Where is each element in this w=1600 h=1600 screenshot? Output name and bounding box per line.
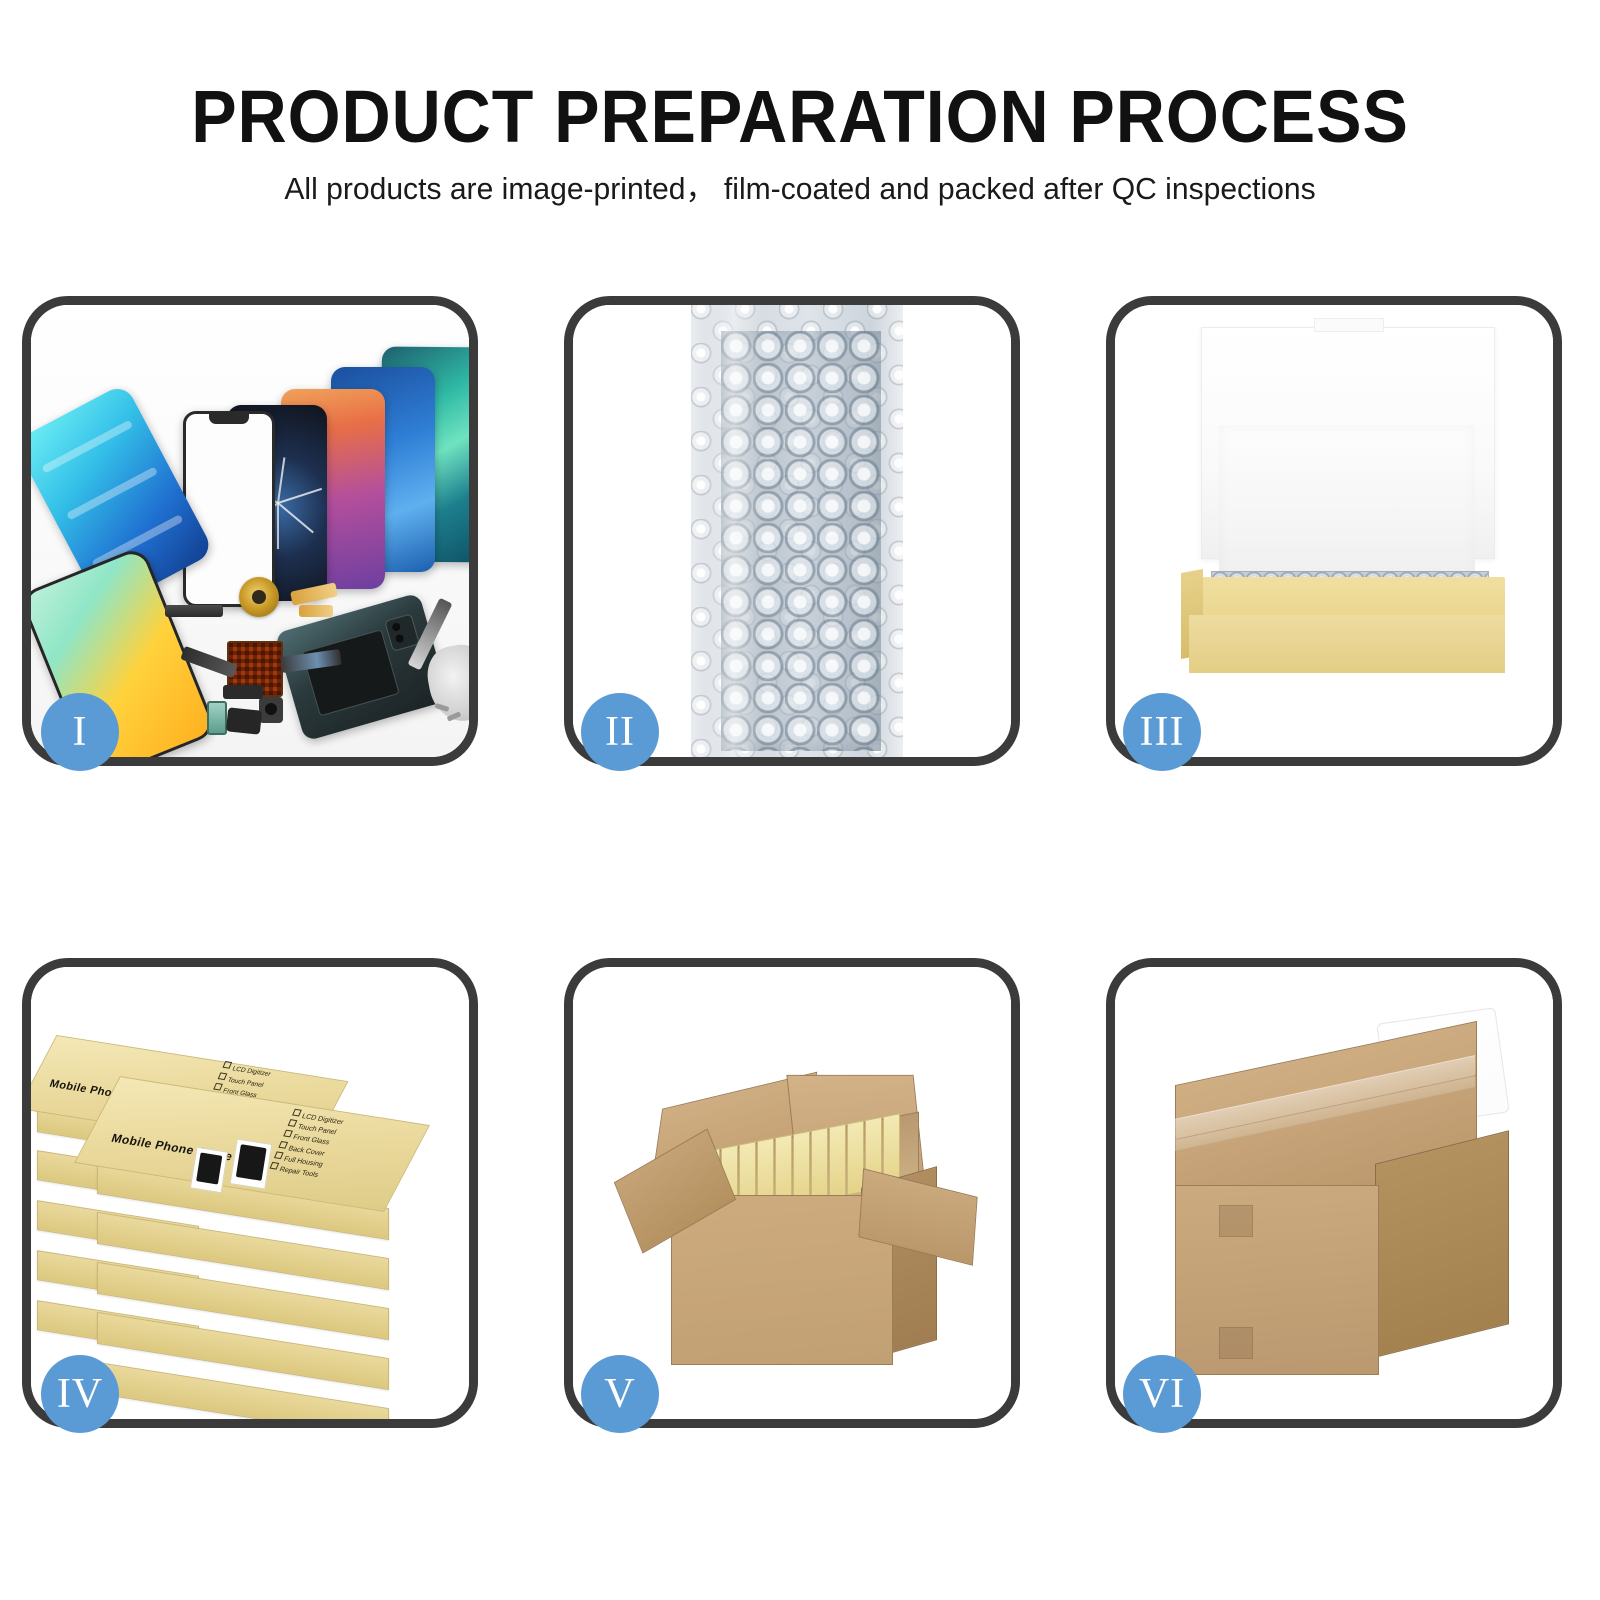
- retail-box-phone-img-front-2: [230, 1138, 273, 1189]
- panel-3-image: [1115, 305, 1553, 757]
- flex-cable-b: [299, 605, 333, 617]
- panel-badge-2: II: [581, 693, 659, 771]
- camera-module: [259, 697, 283, 723]
- panel-4-image: Mobile Phone Spare Parts LCD Digitizer T…: [31, 967, 469, 1419]
- process-panel-1[interactable]: I: [22, 296, 478, 766]
- panel-6-image: [1115, 967, 1553, 1419]
- panel-1-image: [31, 305, 469, 757]
- foam-pad: [1219, 425, 1475, 591]
- carton-front: [1175, 1185, 1379, 1375]
- screws-group: [435, 705, 469, 723]
- panel-badge-4: IV: [41, 1355, 119, 1433]
- process-panel-6[interactable]: VI: [1106, 958, 1562, 1428]
- tape-square-upper: [1219, 1205, 1253, 1237]
- carton-side: [1375, 1130, 1509, 1357]
- panel-badge-6: VI: [1123, 1355, 1201, 1433]
- process-panel-3[interactable]: III: [1106, 296, 1562, 766]
- vibration-motor: [226, 707, 262, 734]
- process-panel-4[interactable]: Mobile Phone Spare Parts LCD Digitizer T…: [22, 958, 478, 1428]
- speaker-module: [165, 605, 223, 617]
- retail-box-phone-img-front-1: [190, 1147, 228, 1193]
- bubble-wrap-sheen: [703, 305, 763, 757]
- sim-tray: [207, 701, 227, 735]
- panel-badge-5: V: [581, 1355, 659, 1433]
- panel-5-image: [573, 967, 1011, 1419]
- wireless-charging-coil: [239, 577, 279, 617]
- process-panel-2[interactable]: II: [564, 296, 1020, 766]
- tape-square-lower: [1219, 1327, 1253, 1359]
- process-panel-grid: I II III: [0, 0, 1600, 1600]
- connector-part: [223, 685, 263, 699]
- panel-2-image: [573, 305, 1011, 757]
- panel-badge-1: I: [41, 693, 119, 771]
- process-panel-5[interactable]: V: [564, 958, 1020, 1428]
- panel-badge-3: III: [1123, 693, 1201, 771]
- gold-box-base: [1189, 577, 1505, 673]
